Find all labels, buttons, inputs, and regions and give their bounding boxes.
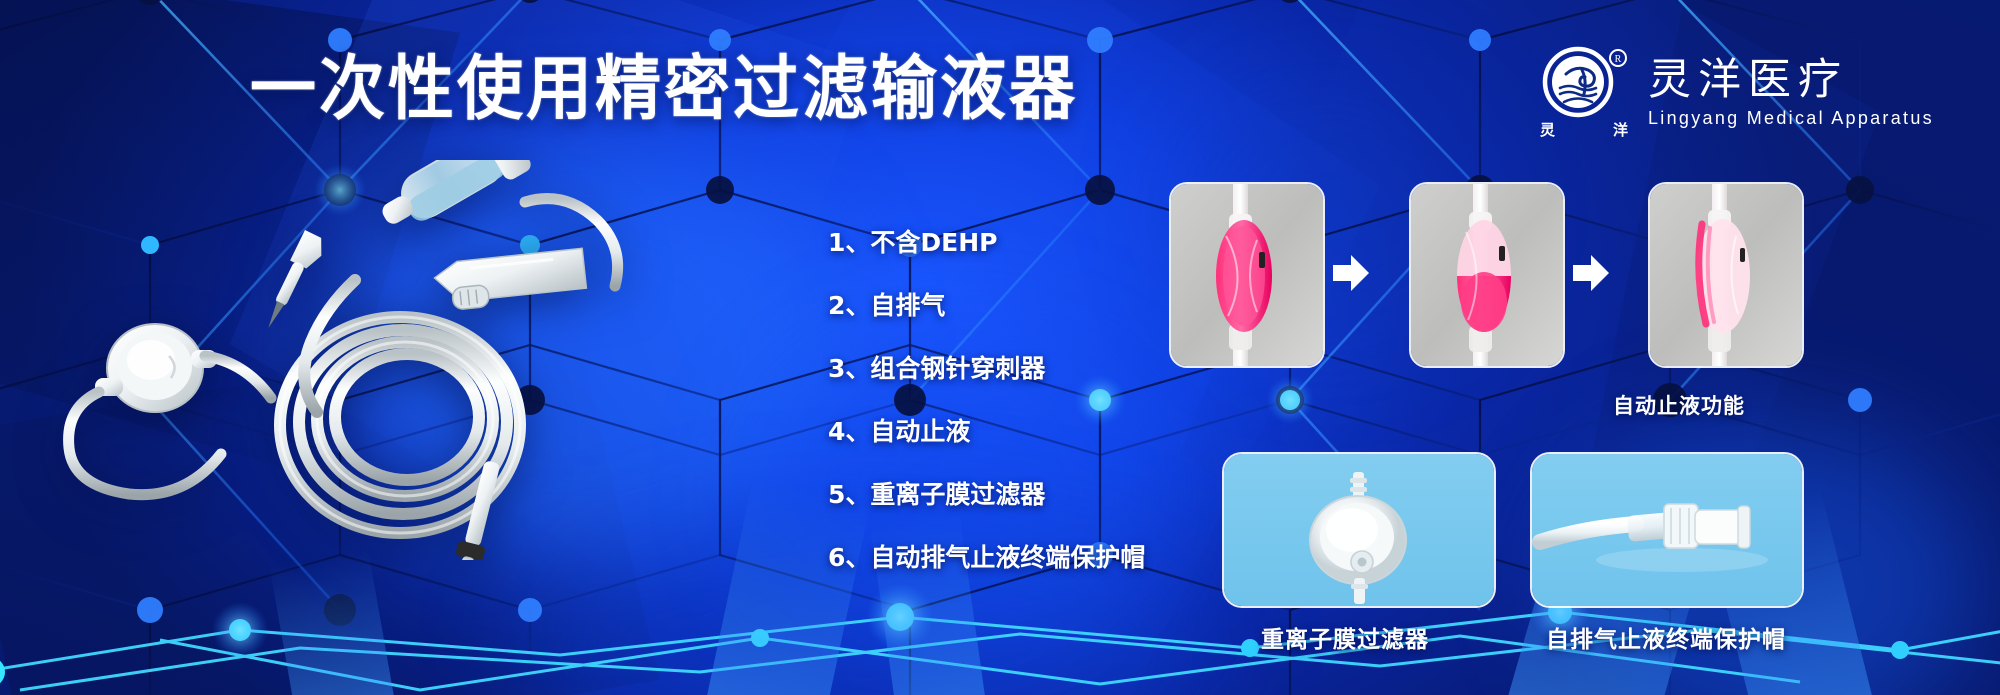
logo-wordmark: 灵洋医疗 Lingyang Medical Apparatus xyxy=(1648,56,1934,129)
filter-product-photo xyxy=(1222,452,1496,608)
feature-item: 2、自排气 xyxy=(828,291,1188,321)
end-cap-product-photo xyxy=(1530,452,1804,608)
brand-logo: R 灵 洋 灵洋医疗 Lingyang Medical Apparatus xyxy=(1536,44,1976,140)
logo-name-cn: 灵洋医疗 xyxy=(1648,56,1934,104)
autostop-step-1-photo xyxy=(1169,182,1325,368)
logo-emblem-subtext: 灵 洋 xyxy=(1536,119,1632,140)
logo-emblem-icon: R 灵 洋 xyxy=(1536,46,1632,138)
autostop-step-2-photo xyxy=(1409,182,1565,368)
feature-item: 5、重离子膜过滤器 xyxy=(828,480,1188,510)
logo-char-ling: 灵 xyxy=(1540,119,1555,140)
sequence-arrow-icon xyxy=(1333,253,1369,293)
logo-char-yang: 洋 xyxy=(1613,119,1628,140)
product-banner: 一次性使用精密过滤输液器 R 灵 洋 灵洋医疗 Lingyang Medica xyxy=(0,0,2000,695)
svg-text:R: R xyxy=(1615,54,1622,65)
sequence-arrow-icon xyxy=(1573,253,1609,293)
end-cap-caption: 自排气止液终端保护帽 xyxy=(1546,620,1786,654)
filter-caption: 重离子膜过滤器 xyxy=(1261,620,1429,654)
page-title: 一次性使用精密过滤输液器 xyxy=(250,46,1040,133)
feature-item: 1、不含DEHP xyxy=(828,228,1188,258)
autostop-caption: 自动止液功能 xyxy=(1613,390,1745,420)
feature-item: 4、自动止液 xyxy=(828,417,1188,447)
feature-item: 3、组合钢针穿刺器 xyxy=(828,354,1188,384)
feature-list: 1、不含DEHP 2、自排气 3、组合钢针穿刺器 4、自动止液 5、重离子膜过滤… xyxy=(828,228,1188,573)
title-block: 一次性使用精密过滤输液器 xyxy=(250,48,1040,130)
hero-product-image xyxy=(55,160,675,560)
autostop-step-3-photo xyxy=(1648,182,1804,368)
logo-name-en: Lingyang Medical Apparatus xyxy=(1648,107,1934,129)
feature-item: 6、自动排气止液终端保护帽 xyxy=(828,543,1188,573)
